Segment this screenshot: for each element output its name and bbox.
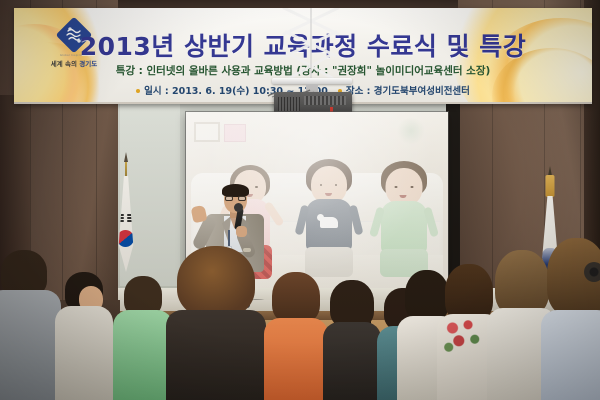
lanyard <box>228 230 230 247</box>
list-item <box>54 272 114 400</box>
projector-vent <box>278 97 300 111</box>
flag-cloth <box>113 176 139 272</box>
attendee-hair <box>177 246 255 318</box>
attendee-hair <box>330 280 374 328</box>
glasses-icon <box>225 196 246 201</box>
attendee-top <box>55 306 113 400</box>
attendee-top <box>541 310 600 400</box>
attendee-top <box>0 290 61 400</box>
attendee-top <box>166 310 266 400</box>
presenter-raised-hand <box>190 205 207 224</box>
presenter-mic-hand <box>236 226 247 237</box>
projector-assembly <box>266 8 358 126</box>
attendee-floral-pattern <box>442 316 484 356</box>
list-item <box>540 238 600 400</box>
attendee-top <box>323 322 381 400</box>
lecture-hall-photo: Global Inspiration 세계 속의 경기도 2013년 상반기 교… <box>0 0 600 400</box>
screen-frame <box>446 96 460 291</box>
flag-finial <box>124 152 128 162</box>
hair-clip-icon <box>584 262 600 282</box>
bullet-dot-icon <box>136 89 140 93</box>
flag-tassel <box>546 175 555 197</box>
microphone-head-icon <box>234 203 243 212</box>
list-item <box>164 246 268 400</box>
south-korea-flag <box>104 152 148 278</box>
projector-control-panel <box>304 96 346 105</box>
taeguk-symbol-icon <box>117 230 134 247</box>
list-item <box>262 272 330 400</box>
scissor-lift-mount-icon <box>280 8 344 82</box>
banner-place: 장소 : 경기도북부여성비전센터 <box>346 86 470 97</box>
list-item <box>0 250 62 400</box>
list-item <box>322 280 382 400</box>
attendee-hair <box>272 272 320 324</box>
attendee-top <box>264 318 328 400</box>
